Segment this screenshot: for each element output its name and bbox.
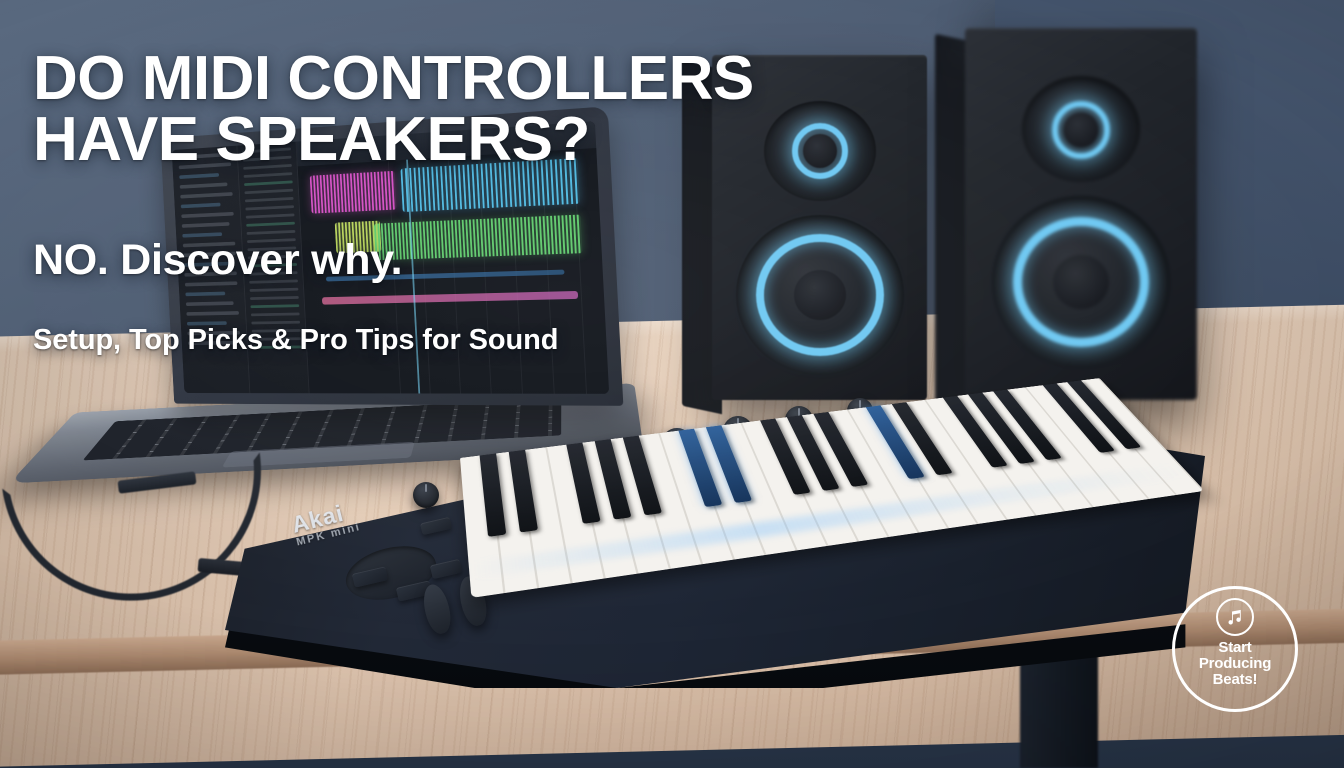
badge-line-2: Producing <box>1199 656 1271 672</box>
page-title: DO MIDI CONTROLLERS HAVE SPEAKERS? <box>33 48 754 171</box>
music-note-icon <box>1216 598 1254 636</box>
badge-line-3: Beats! <box>1199 672 1271 688</box>
start-producing-beats-badge[interactable]: Start Producing Beats! <box>1172 586 1298 712</box>
headline-line-2: HAVE SPEAKERS? <box>33 109 754 170</box>
tagline: Setup, Top Picks & Pro Tips for Sound <box>33 324 558 357</box>
headline-line-1: DO MIDI CONTROLLERS <box>33 48 754 109</box>
badge-label: Start Producing Beats! <box>1199 640 1271 687</box>
badge-line-1: Start <box>1199 640 1271 656</box>
subheadline: NO. Discover why. <box>33 236 402 285</box>
promo-banner: Akai MPK mini <box>0 0 1344 768</box>
